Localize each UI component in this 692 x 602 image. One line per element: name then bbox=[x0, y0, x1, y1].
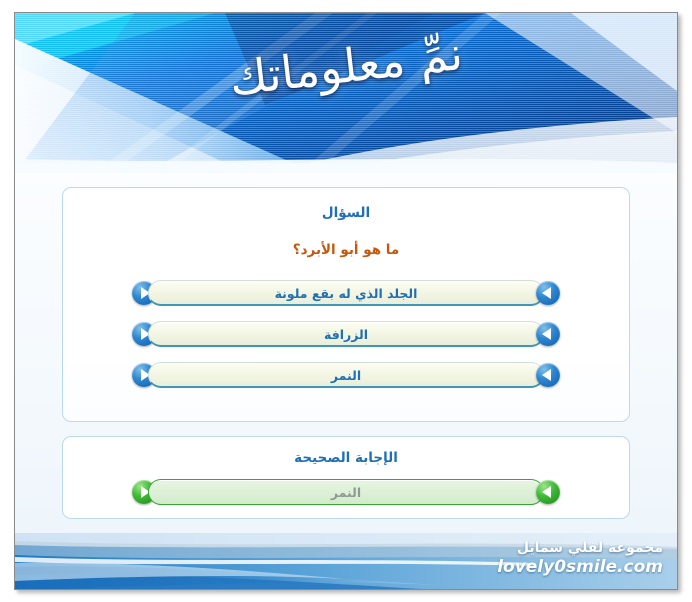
footer-branding: مجموعة لفلي سمايل lovely0smile.com bbox=[497, 539, 663, 577]
question-panel: السؤال ما هو أبو الأبرد؟ الجلد الذي له ب… bbox=[62, 187, 630, 422]
answer-panel-title: الإجابة الصحيحة bbox=[63, 450, 629, 466]
header-artwork bbox=[15, 13, 677, 173]
option-row[interactable]: الجلد الذي له بقع ملونة bbox=[132, 280, 560, 306]
option-label: الزرافة bbox=[149, 322, 543, 348]
play-left-icon[interactable] bbox=[536, 480, 560, 504]
correct-answer-panel: الإجابة الصحيحة النمر bbox=[62, 436, 630, 519]
play-left-icon[interactable] bbox=[536, 363, 560, 387]
answer-options-list: الجلد الذي له بقع ملونة الزرافة النمر bbox=[63, 280, 629, 388]
question-panel-title: السؤال bbox=[63, 205, 629, 221]
option-pill[interactable]: الزرافة bbox=[148, 321, 544, 347]
option-row[interactable]: النمر bbox=[132, 362, 560, 388]
play-left-icon[interactable] bbox=[536, 322, 560, 346]
footer-brand-arabic: مجموعة لفلي سمايل bbox=[497, 539, 663, 558]
footer-brand-url: lovely0smile.com bbox=[497, 558, 663, 577]
header-banner: نمِّ معلوماتك bbox=[15, 13, 677, 173]
content-area: lovely0smile.com السؤال ما هو أبو الأبرد… bbox=[15, 173, 677, 533]
option-label: الجلد الذي له بقع ملونة bbox=[149, 281, 543, 307]
correct-answer-pill[interactable]: النمر bbox=[148, 479, 544, 505]
correct-answer-label: النمر bbox=[149, 480, 543, 506]
question-text: ما هو أبو الأبرد؟ bbox=[63, 242, 629, 258]
correct-answer-row[interactable]: النمر bbox=[132, 479, 560, 505]
option-pill[interactable]: الجلد الذي له بقع ملونة bbox=[148, 280, 544, 306]
app-window: نمِّ معلوماتك lovely0smile.com السؤال ما… bbox=[14, 12, 678, 590]
footer-banner: مجموعة لفلي سمايل lovely0smile.com bbox=[15, 533, 677, 590]
option-pill[interactable]: النمر bbox=[148, 362, 544, 388]
option-row[interactable]: الزرافة bbox=[132, 321, 560, 347]
play-left-icon[interactable] bbox=[536, 281, 560, 305]
option-label: النمر bbox=[149, 363, 543, 389]
